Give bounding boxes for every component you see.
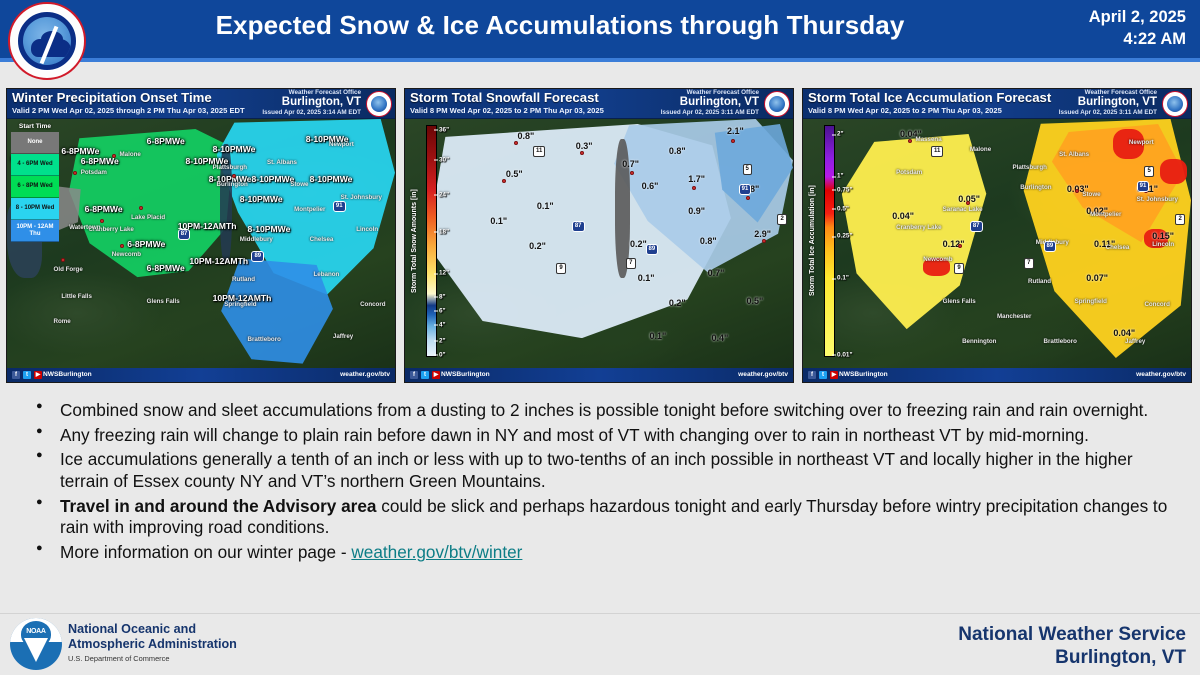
city-label: Rutland [1028, 278, 1051, 285]
city-label: St. Johnsbury [341, 194, 382, 201]
city-label: Little Falls [61, 293, 92, 300]
city-dot [731, 139, 735, 143]
cbar-tick: 0.1" [837, 275, 849, 282]
bullet-item-2: Any freezing rain will change to plain r… [22, 425, 1182, 447]
route-shield: 9 [556, 263, 565, 274]
city-label: Montpelier [294, 206, 325, 213]
cbar-tick: 0.25" [837, 233, 852, 240]
city-label: St. Johnsbury [1137, 196, 1178, 203]
noaa-line-1: National Oceanic and [68, 622, 237, 637]
panel-3-wfo-small: Weather Forecast Office [1059, 89, 1157, 96]
city-label: St. Albans [1059, 151, 1089, 158]
legend-item-10pm-12am: 10PM - 12AM Thu [11, 220, 59, 242]
panel-1-map[interactable]: Start Time None 4 - 6PM Wed 6 - 8PM Wed … [7, 119, 395, 368]
snow-colorbar: Storm Total Snow Amounts [in] 36" 30" 24… [411, 125, 457, 357]
city-label: Newcomb [923, 256, 952, 263]
cbar-tick: 2" [439, 337, 446, 344]
panel-winter-precip-onset[interactable]: Winter Precipitation Onset Time Valid 2 … [6, 88, 396, 383]
panel-2-social-url: weather.gov/btv [738, 371, 788, 378]
panel-2-wfo-small: Weather Forecast Office [661, 89, 759, 96]
interstate-shield: 89 [1044, 241, 1057, 252]
cbar-tick: 6" [439, 307, 446, 314]
city-label: Lincoln [356, 226, 378, 233]
panel-2-social-bar: f t ▶ NWSBurlington weather.gov/btv [405, 368, 793, 382]
header-time: 4:22 AM [946, 28, 1186, 50]
panel-3-issued: Issued Apr 02, 2025 3:11 AM EDT [1059, 109, 1157, 116]
city-label: Cranberry Lake [896, 224, 941, 231]
legend-item-4-6pm: 4 - 6PM Wed [11, 154, 59, 176]
city-label: Montpelier [1090, 211, 1121, 218]
panel-2-social-handle: NWSBurlington [441, 371, 490, 378]
panel-3-wfo: Weather Forecast Office Burlington, VT I… [1059, 89, 1157, 116]
cbar-tick: 1" [837, 173, 844, 180]
city-label: Plattsburgh [1013, 164, 1047, 171]
route-shield: 5 [1144, 166, 1153, 177]
panel-3-valid: Valid 8 PM Wed Apr 02, 2025 to 2 PM Thu … [808, 106, 1002, 115]
route-shield: 7 [626, 258, 635, 269]
interstate-shield: 91 [739, 184, 752, 195]
winter-page-link[interactable]: weather.gov/btv/winter [351, 542, 522, 562]
city-label: Burlington [1020, 184, 1051, 191]
city-dot [908, 139, 912, 143]
noaa-logo-icon [10, 618, 62, 670]
panel-3-title: Storm Total Ice Accumulation Forecast [808, 90, 1051, 105]
interstate-shield: 87 [970, 221, 983, 232]
cbar-tick: 8" [439, 293, 446, 300]
footer-office: National Weather Service Burlington, VT [958, 624, 1186, 670]
panel-1-issued: Issued Apr 02, 2025 3:14 AM EDT [262, 109, 361, 116]
legend-item-6-8pm: 6 - 8PM Wed [11, 176, 59, 198]
panel-3-wfo-city: Burlington, VT [1059, 96, 1157, 109]
panel-3-social-handle: NWSBurlington [839, 371, 888, 378]
map-panels-row: Winter Precipitation Onset Time Valid 2 … [0, 66, 1200, 391]
interstate-shield: 91 [333, 201, 346, 212]
footer-office-line-1: National Weather Service [958, 624, 1186, 647]
cbar-tick: 0.01" [837, 351, 852, 358]
interstate-shield: 87 [178, 229, 191, 240]
snow-colorbar-label: Storm Total Snow Amounts [in] [411, 125, 423, 357]
header-date: April 2, 2025 [946, 6, 1186, 28]
city-label: Plattsburgh [213, 164, 247, 171]
cbar-tick: 18" [439, 228, 449, 235]
route-shield: 2 [777, 214, 786, 225]
city-label: Lincoln [1152, 241, 1174, 248]
bullet-text: Combined snow and sleet accumulations fr… [60, 400, 1148, 420]
city-label: Concord [1144, 301, 1169, 308]
interstate-shield: 89 [646, 244, 659, 255]
legend-title: Start Time [11, 123, 59, 130]
panel-1-title: Winter Precipitation Onset Time [12, 90, 212, 105]
ice-colorbar-gradient [824, 125, 835, 357]
city-label: Rome [54, 318, 71, 325]
page-title: Expected Snow & Ice Accumulations throug… [110, 10, 1010, 41]
nws-seal-icon [8, 2, 86, 80]
city-dot [232, 174, 236, 178]
city-label: Manchester [997, 313, 1031, 320]
panel-2-title: Storm Total Snowfall Forecast [410, 90, 599, 105]
ice-colorbar-label: Storm Total Ice Accumulation [in] [809, 125, 821, 357]
route-shield: 11 [533, 146, 545, 157]
city-label: Watertown [69, 224, 100, 231]
interstate-shield: 87 [572, 221, 585, 232]
bullet-item-4: Travel in and around the Advisory area c… [22, 496, 1182, 539]
city-label: Jaffrey [1125, 338, 1145, 345]
route-shield: 2 [1175, 214, 1184, 225]
panel-1-social-url: weather.gov/btv [340, 371, 390, 378]
route-shield: 11 [931, 146, 943, 157]
city-label: Lebanon [314, 271, 340, 278]
cbar-tick: 12" [439, 270, 449, 277]
city-dot [762, 239, 766, 243]
youtube-icon[interactable]: ▶ [432, 371, 440, 379]
panel-2-map[interactable]: Storm Total Snow Amounts [in] 36" 30" 24… [405, 119, 793, 368]
panel-1-wfo-small: Weather Forecast Office [262, 89, 361, 96]
city-dot [958, 244, 962, 248]
panel-2-header: Storm Total Snowfall Forecast Valid 8 PM… [405, 89, 793, 119]
panel-3-social-bar: f t ▶ NWSBurlington weather.gov/btv [803, 368, 1191, 382]
city-label: Saranac Lake [943, 206, 983, 213]
bullet-text: Any freezing rain will change to plain r… [60, 425, 1089, 445]
city-label: Springfield [1075, 298, 1107, 305]
bullet-item-3: Ice accumulations generally a tenth of a… [22, 449, 1182, 492]
key-messages-list: Combined snow and sleet accumulations fr… [22, 400, 1182, 567]
onset-time-legend: Start Time None 4 - 6PM Wed 6 - 8PM Wed … [11, 123, 59, 242]
city-label: Chelsea [1106, 244, 1130, 251]
bullet-item-5: More information on our winter page - we… [22, 542, 1182, 564]
bullet-text: Ice accumulations generally a tenth of a… [60, 449, 1133, 491]
city-label: Jaffrey [333, 333, 353, 340]
noaa-line-2: Atmospheric Administration [68, 637, 237, 652]
panel-2-issued: Issued Apr 02, 2025 3:11 AM EDT [661, 109, 759, 116]
city-label: Bennington [962, 338, 996, 345]
panel-3-header: Storm Total Ice Accumulation Forecast Va… [803, 89, 1191, 119]
panel-2-valid: Valid 8 PM Wed Apr 02, 2025 to 2 PM Thu … [410, 106, 604, 115]
city-label: Springfield [224, 301, 256, 308]
panel-storm-total-snowfall[interactable]: Storm Total Snowfall Forecast Valid 8 PM… [404, 88, 794, 383]
panel-1-social-handle: NWSBurlington [43, 371, 92, 378]
city-label: Burlington [217, 181, 248, 188]
slide-root: Expected Snow & Ice Accumulations throug… [0, 0, 1200, 675]
ice-patch-red [1160, 159, 1187, 184]
city-label: Glens Falls [943, 298, 976, 305]
panel-storm-total-ice[interactable]: Storm Total Ice Accumulation Forecast Va… [802, 88, 1192, 383]
panel-3-map[interactable]: Storm Total Ice Accumulation [in] 2" 1" … [803, 119, 1191, 368]
bullet-text: More information on our winter page - [60, 542, 351, 562]
footer-bar: National Oceanic and Atmospheric Adminis… [0, 613, 1200, 675]
panel-2-wfo: Weather Forecast Office Burlington, VT I… [661, 89, 759, 116]
twitter-icon[interactable]: t [421, 371, 429, 379]
cbar-tick: 30" [439, 156, 449, 163]
city-label: Massena [916, 136, 942, 143]
city-label: Potsdam [896, 169, 922, 176]
route-shield: 7 [1024, 258, 1033, 269]
panel-1-social-bar: f t ▶ NWSBurlington weather.gov/btv [7, 368, 395, 382]
panel-3-nws-seal-icon [1162, 91, 1188, 117]
cbar-tick: 2" [837, 131, 844, 138]
lake-champlain [220, 144, 232, 264]
route-shield: 9 [954, 263, 963, 274]
cbar-tick: 0.75" [837, 186, 852, 193]
cbar-tick: 0" [439, 351, 446, 358]
interstate-shield: 91 [1137, 181, 1150, 192]
noaa-sub-line: U.S. Department of Commerce [68, 655, 237, 664]
footer-office-line-2: Burlington, VT [958, 647, 1186, 670]
cbar-tick: 4" [439, 321, 446, 328]
facebook-icon[interactable]: f [808, 371, 816, 379]
legend-item-none: None [11, 132, 59, 154]
city-label: Old Forge [54, 266, 83, 273]
panel-2-wfo-city: Burlington, VT [661, 96, 759, 109]
bullet-item-1: Combined snow and sleet accumulations fr… [22, 400, 1182, 422]
legend-item-8-10pm: 8 - 10PM Wed [11, 198, 59, 220]
city-label: Potsdam [81, 169, 107, 176]
route-shield: 5 [743, 164, 752, 175]
city-label: Lake Placid [131, 214, 165, 221]
bullet-text-bold: Travel in and around the Advisory area [60, 496, 376, 516]
panel-3-social-url: weather.gov/btv [1136, 371, 1186, 378]
city-label: Chelsea [310, 236, 334, 243]
city-label: Stowe [290, 181, 308, 188]
city-label: Malone [970, 146, 991, 153]
city-label: Malone [120, 151, 141, 158]
city-label: Newcomb [112, 251, 141, 258]
city-label: Rutland [232, 276, 255, 283]
city-label: St. Albans [267, 159, 297, 166]
city-label: Concord [360, 301, 385, 308]
city-dot [100, 219, 104, 223]
ice-colorbar: Storm Total Ice Accumulation [in] 2" 1" … [809, 125, 855, 357]
interstate-shield: 89 [251, 251, 264, 262]
panel-1-header: Winter Precipitation Onset Time Valid 2 … [7, 89, 395, 119]
cbar-tick: 24" [439, 191, 449, 198]
panel-1-wfo: Weather Forecast Office Burlington, VT I… [262, 89, 361, 116]
city-label: Brattleboro [248, 336, 281, 343]
youtube-icon[interactable]: ▶ [830, 371, 838, 379]
city-label: Newport [1129, 139, 1154, 146]
city-dot [1075, 189, 1079, 193]
lake-champlain [615, 139, 631, 278]
city-label: Newport [329, 141, 354, 148]
noaa-wordmark: National Oceanic and Atmospheric Adminis… [68, 622, 237, 663]
header-datetime: April 2, 2025 4:22 AM [946, 6, 1186, 51]
cbar-tick: 0.5" [837, 205, 849, 212]
twitter-icon[interactable]: t [819, 371, 827, 379]
city-label: Brattleboro [1044, 338, 1077, 345]
panel-2-nws-seal-icon [764, 91, 790, 117]
cbar-tick: 36" [439, 126, 449, 133]
city-label: Glens Falls [147, 298, 180, 305]
panel-1-valid: Valid 2 PM Wed Apr 02, 2025 through 2 PM… [12, 106, 245, 115]
panel-1-nws-seal-icon [366, 91, 392, 117]
city-label: Middlebury [240, 236, 273, 243]
youtube-icon[interactable]: ▶ [34, 371, 42, 379]
facebook-icon[interactable]: f [410, 371, 418, 379]
city-dot [502, 179, 506, 183]
panel-1-wfo-city: Burlington, VT [262, 96, 361, 109]
twitter-icon[interactable]: t [23, 371, 31, 379]
city-dot [120, 244, 124, 248]
facebook-icon[interactable]: f [12, 371, 20, 379]
city-dot [112, 154, 116, 158]
city-label: Stowe [1082, 191, 1100, 198]
